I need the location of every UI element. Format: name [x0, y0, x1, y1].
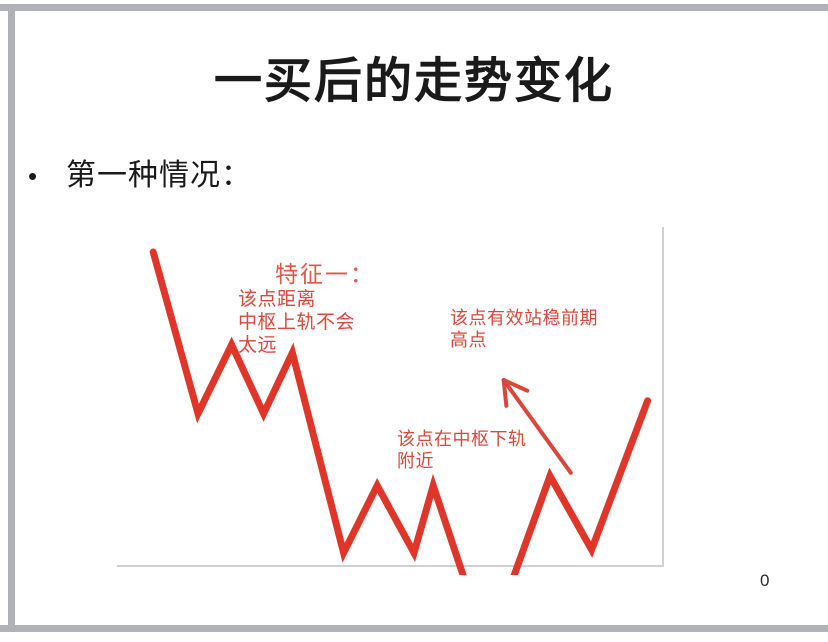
annotation-feature-body: 该点距离 中枢上轨不会 太远 [238, 288, 355, 358]
slide-root: 一买后的走势变化 • 第一种情况： 特征一： 该点距离 中枢上轨不会 太远 该点… [0, 0, 828, 642]
annotation-right-note: 该点有效站稳前期 高点 [450, 308, 598, 352]
chart-container: 特征一： 该点距离 中枢上轨不会 太远 该点有效站稳前期 高点 该点在中枢下轨 … [110, 220, 670, 575]
bullet-marker-icon: • [22, 163, 66, 189]
slide-frame-top [0, 4, 828, 11]
page-number: 0 [760, 571, 769, 591]
slide-frame-bottom [0, 625, 828, 632]
bullet-row: • 第一种情况： [22, 158, 252, 194]
price-path-chart [110, 220, 670, 575]
price-path-line [153, 252, 647, 575]
annotation-bottom-note: 该点在中枢下轨 附近 [397, 429, 527, 473]
page-title: 一买后的走势变化 [0, 56, 828, 109]
annotation-feature-heading: 特征一： [275, 260, 375, 288]
bullet-label: 第一种情况： [66, 158, 252, 194]
